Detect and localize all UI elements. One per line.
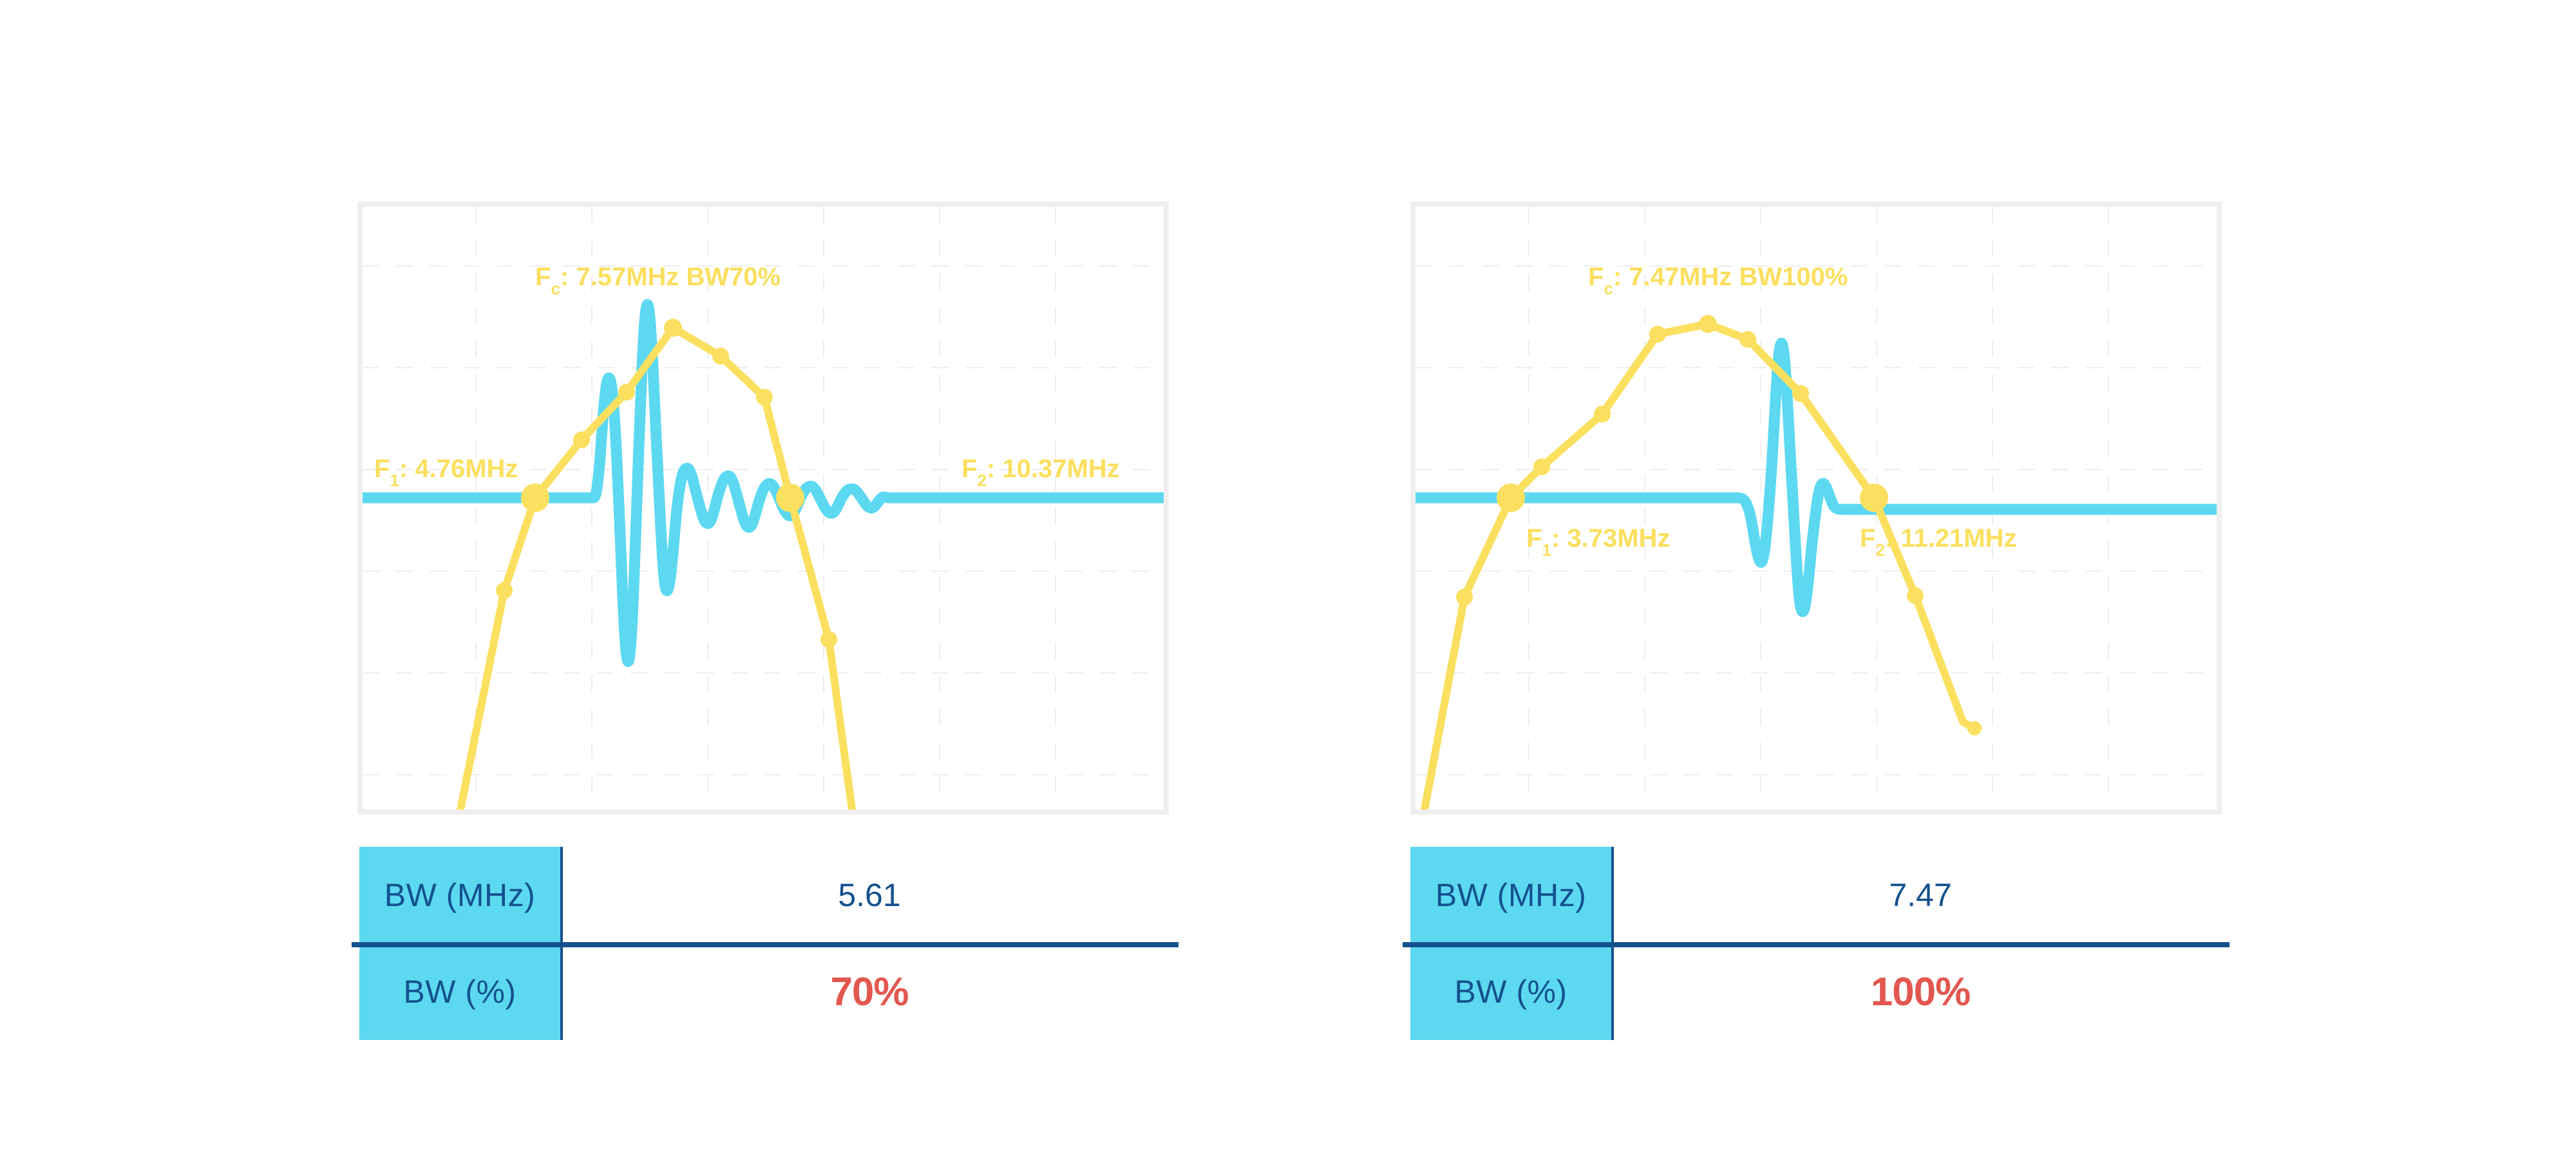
annotation-f1-right-text: : 3.73MHz: [1551, 524, 1671, 553]
table-row: BW (MHz) 7.47: [1410, 847, 2230, 943]
annotation-f2-left-prefix: F: [961, 455, 977, 483]
bw-mhz-value-cell-left: 5.61: [560, 847, 1179, 943]
annotation-fc-left-sub: c: [551, 279, 560, 298]
annotation-f2-left-text: : 10.37MHz: [987, 455, 1120, 483]
bw-mhz-value-cell-right: 7.47: [1611, 847, 2230, 943]
annotation-f1-right-sub: 1: [1542, 540, 1551, 560]
spectrum-chart-left: Fc: 7.57MHz BW70% F1: 4.76MHz F2: 10.37M…: [363, 207, 1164, 809]
annotation-f1-left: F1: 4.76MHz: [374, 455, 518, 490]
annotation-f2-right-sub: 2: [1875, 540, 1884, 560]
annotation-fc-right-text: : 7.47MHz BW100%: [1613, 263, 1848, 291]
bw-mhz-label-right: BW (MHz): [1410, 847, 1611, 943]
figure-root: Fc: 7.57MHz BW70% F1: 4.76MHz F2: 10.37M…: [0, 0, 2576, 1154]
bw-mhz-label-left: BW (MHz): [359, 847, 560, 943]
annotation-f2-right-prefix: F: [1860, 524, 1875, 553]
annotation-fc-right-sub: c: [1604, 279, 1613, 298]
annotation-f1-left-sub: 1: [390, 471, 399, 490]
bw-table-left: BW (MHz) 5.61 BW (%) 70%: [359, 847, 1179, 1040]
bw-mhz-value-right: 7.47: [1889, 876, 1951, 914]
annotation-fc-left-prefix: F: [535, 263, 551, 291]
annotation-f1-right-prefix: F: [1526, 524, 1542, 553]
annotation-fc-right: Fc: 7.47MHz BW100%: [1588, 263, 1848, 298]
bw-table-right: BW (MHz) 7.47 BW (%) 100%: [1410, 847, 2230, 1040]
annotation-f1-right: F1: 3.73MHz: [1526, 524, 1670, 560]
table-middle-rule-left: [352, 942, 1179, 947]
table-column-divider-right: [1611, 847, 1614, 1040]
bw-mhz-value-left: 5.61: [838, 876, 900, 914]
bw-percent-value-cell-right: 100%: [1611, 943, 2230, 1040]
bw-percent-label-right: BW (%): [1410, 943, 1611, 1040]
annotation-f1-left-prefix: F: [374, 455, 390, 483]
marker-f2-right: [1860, 484, 1888, 512]
bw-percent-value-right: 100%: [1871, 969, 1971, 1015]
marker-f1-right: [1497, 484, 1525, 512]
annotation-f2-right-text: : 11.21MHz: [1885, 524, 2017, 553]
bw-percent-value-cell-left: 70%: [560, 943, 1179, 1040]
annotation-f2-left: F2: 10.37MHz: [961, 455, 1120, 490]
marker-f2-left: [776, 484, 804, 512]
table-middle-rule-right: [1403, 942, 2230, 947]
chart-frame-left: Fc: 7.57MHz BW70% F1: 4.76MHz F2: 10.37M…: [357, 202, 1169, 815]
marker-f1-left: [521, 484, 549, 512]
spectrum-chart-right: Fc: 7.47MHz BW100% F1: 3.73MHz F2: 11.21…: [1416, 207, 2217, 809]
annotation-fc-left: Fc: 7.57MHz BW70%: [535, 263, 781, 298]
table-row: BW (%) 100%: [1410, 943, 2230, 1040]
annotation-f2-left-sub: 2: [977, 471, 986, 490]
bw-percent-label-left: BW (%): [359, 943, 560, 1040]
table-row: BW (MHz) 5.61: [359, 847, 1179, 943]
annotation-fc-left-text: : 7.57MHz BW70%: [560, 263, 781, 291]
annotation-fc-right-prefix: F: [1588, 263, 1604, 291]
gridlines-left: [363, 207, 1164, 809]
bw-percent-value-left: 70%: [830, 969, 908, 1015]
spectrum-trace-right: [1425, 324, 1977, 809]
table-column-divider-left: [560, 847, 563, 1040]
table-row: BW (%) 70%: [359, 943, 1179, 1040]
waveform-trace-left: [363, 305, 1164, 661]
annotation-f1-left-text: : 4.76MHz: [399, 455, 518, 483]
chart-frame-right: Fc: 7.47MHz BW100% F1: 3.73MHz F2: 11.21…: [1410, 202, 2222, 815]
